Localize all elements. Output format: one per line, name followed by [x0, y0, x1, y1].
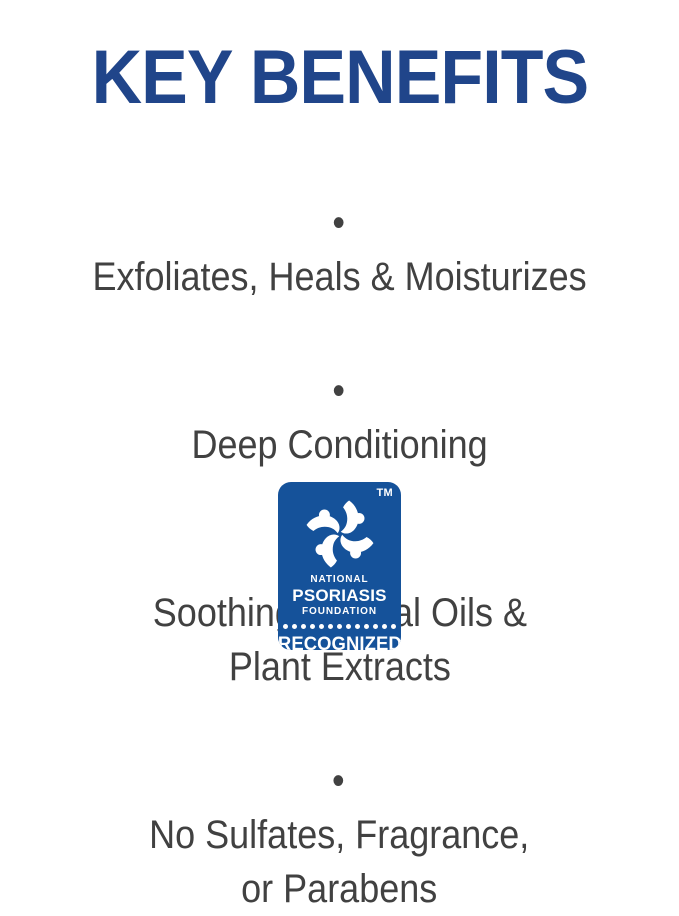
trademark-label: TM — [377, 488, 393, 499]
separator-dot — [373, 624, 378, 629]
separator-dot — [355, 624, 360, 629]
list-item: • Exfoliates, Heals & Moisturizes — [92, 142, 586, 304]
badge-dot-separator — [283, 624, 396, 629]
separator-dot — [346, 624, 351, 629]
badge-recognized-label: RECOGNIZED — [278, 634, 401, 650]
list-item: • Deep Conditioning — [191, 310, 487, 472]
badge-line-psoriasis: PSORIASIS — [292, 586, 386, 605]
list-item-label: Deep Conditioning — [191, 423, 487, 467]
bullet-icon: • — [332, 369, 346, 413]
page-title: KEY BENEFITS — [91, 40, 588, 116]
key-benefits-panel: KEY BENEFITS • Exfoliates, Heals & Moist… — [0, 0, 679, 679]
separator-dot — [382, 624, 387, 629]
separator-dot — [364, 624, 369, 629]
badge-line-foundation: FOUNDATION — [302, 605, 377, 618]
badge-org-name: NATIONAL PSORIASIS FOUNDATION — [292, 573, 386, 618]
list-item-label: No Sulfates, Fragrance, or Parabens — [149, 813, 529, 911]
list-item: • No Sulfates, Fragrance, or Parabens — [149, 700, 529, 916]
bullet-icon: • — [332, 201, 346, 245]
separator-dot — [328, 624, 333, 629]
badge-line-national: NATIONAL — [310, 573, 368, 586]
list-item-label: Exfoliates, Heals & Moisturizes — [92, 255, 586, 299]
npf-recognized-badge: TM — [278, 482, 401, 650]
separator-dot — [301, 624, 306, 629]
separator-dot — [319, 624, 324, 629]
separator-dot — [337, 624, 342, 629]
separator-dot — [292, 624, 297, 629]
separator-dot — [310, 624, 315, 629]
bullet-icon: • — [332, 759, 346, 803]
separator-dot — [391, 624, 396, 629]
npf-recognized-badge-wrapper: TM — [0, 482, 679, 650]
separator-dot — [283, 624, 288, 629]
npf-pinwheel-people-icon — [302, 496, 378, 572]
